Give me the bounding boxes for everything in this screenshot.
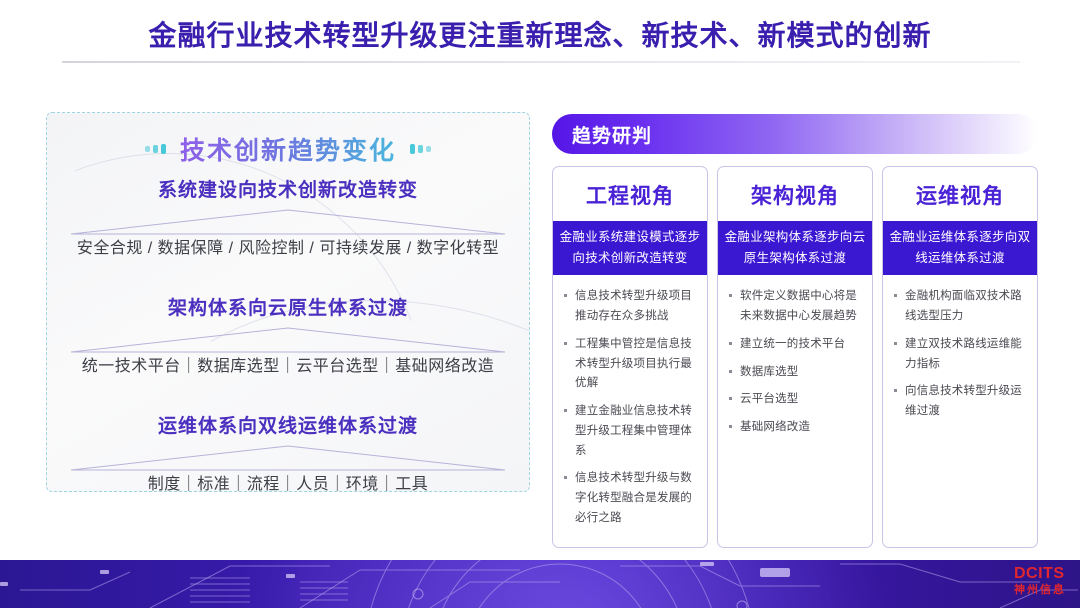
trend-change-panel: 技术创新趋势变化 系统建设向技术创新改造转变 安全合规 / 数据保障 / 风险控… — [46, 112, 530, 492]
list-item: 建立统一的技术平台 — [727, 335, 863, 355]
trend-block-1-items: 安全合规 / 数据保障 / 风险控制 / 可持续发展 / 数字化转型 — [47, 234, 529, 258]
trend-block-3: 运维体系向双线运维体系过渡 制度｜标准｜流程｜人员｜环境｜工具 — [47, 411, 529, 492]
panel-header: 技术创新趋势变化 — [47, 131, 529, 167]
list-item: 向信息技术转型升级运维过渡 — [892, 382, 1028, 422]
list-item: 工程集中管控是信息技术转型升级项目执行最优解 — [562, 335, 698, 394]
list-item: 建立双技术路线运维能力指标 — [892, 335, 1028, 375]
list-item: 数据库选型 — [727, 363, 863, 383]
card-engineering[interactable]: 工程视角 金融业系统建设模式逐步向技术创新改造转变 信息技术转型升级项目推动存在… — [552, 166, 708, 548]
card-architecture-subtitle: 金融业架构体系逐步向云原生架构体系过渡 — [718, 221, 872, 275]
card-operations-body: 金融机构面临双技术路线选型压力 建立双技术路线运维能力指标 向信息技术转型升级运… — [883, 275, 1037, 546]
card-architecture-body: 软件定义数据中心将是未来数据中心发展趋势 建立统一的技术平台 数据库选型 云平台… — [718, 275, 872, 546]
chevron-divider-3-icon — [69, 442, 507, 472]
list-item: 软件定义数据中心将是未来数据中心发展趋势 — [727, 287, 863, 327]
trend-judgement-banner-label: 趋势研判 — [552, 121, 652, 148]
card-engineering-title: 工程视角 — [553, 167, 707, 221]
circuit-pattern-icon — [0, 560, 1080, 608]
trend-block-2-heading: 架构体系向云原生体系过渡 — [47, 293, 529, 320]
card-operations-title: 运维视角 — [883, 167, 1037, 221]
title-divider — [62, 61, 1020, 63]
dots-left-icon — [145, 144, 166, 154]
page-title: 金融行业技术转型升级更注重新理念、新技术、新模式的创新 — [0, 14, 1080, 54]
list-item: 建立金融业信息技术转型升级工程集中管理体系 — [562, 402, 698, 461]
list-item: 基础网络改造 — [727, 418, 863, 438]
list-item: 信息技术转型升级与数字化转型融合是发展的必行之路 — [562, 469, 698, 528]
dots-right-icon — [410, 144, 431, 154]
card-architecture[interactable]: 架构视角 金融业架构体系逐步向云原生架构体系过渡 软件定义数据中心将是未来数据中… — [717, 166, 873, 548]
chevron-divider-2-icon — [69, 324, 507, 354]
card-engineering-subtitle: 金融业系统建设模式逐步向技术创新改造转变 — [553, 221, 707, 275]
brand-logo: DCITS 神州信息 — [979, 566, 1066, 596]
chevron-divider-1-icon — [69, 206, 507, 236]
trend-block-3-heading: 运维体系向双线运维体系过渡 — [47, 411, 529, 438]
card-operations-subtitle: 金融业运维体系逐步向双线运维体系过渡 — [883, 221, 1037, 275]
list-item: 云平台选型 — [727, 390, 863, 410]
dcits-swirl-icon — [979, 568, 1009, 594]
trend-judgement-banner: 趋势研判 — [552, 114, 1038, 154]
card-engineering-body: 信息技术转型升级项目推动存在众多挑战 工程集中管控是信息技术转型升级项目执行最优… — [553, 275, 707, 546]
list-item: 金融机构面临双技术路线选型压力 — [892, 287, 1028, 327]
card-architecture-title: 架构视角 — [718, 167, 872, 221]
trend-judgement-panel: 趋势研判 工程视角 金融业系统建设模式逐步向技术创新改造转变 信息技术转型升级项… — [552, 114, 1038, 154]
footer-banner: DCITS 神州信息 — [0, 560, 1080, 608]
perspective-cards: 工程视角 金融业系统建设模式逐步向技术创新改造转变 信息技术转型升级项目推动存在… — [552, 166, 1038, 548]
list-item: 信息技术转型升级项目推动存在众多挑战 — [562, 287, 698, 327]
card-operations[interactable]: 运维视角 金融业运维体系逐步向双线运维体系过渡 金融机构面临双技术路线选型压力 … — [882, 166, 1038, 548]
trend-block-1: 系统建设向技术创新改造转变 安全合规 / 数据保障 / 风险控制 / 可持续发展… — [47, 175, 529, 258]
trend-block-3-items: 制度｜标准｜流程｜人员｜环境｜工具 — [47, 470, 529, 492]
trend-block-2: 架构体系向云原生体系过渡 统一技术平台｜数据库选型｜云平台选型｜基础网络改造 — [47, 293, 529, 376]
trend-block-2-items: 统一技术平台｜数据库选型｜云平台选型｜基础网络改造 — [47, 352, 529, 376]
trend-block-1-heading: 系统建设向技术创新改造转变 — [47, 175, 529, 202]
panel-header-label: 技术创新趋势变化 — [180, 131, 396, 167]
